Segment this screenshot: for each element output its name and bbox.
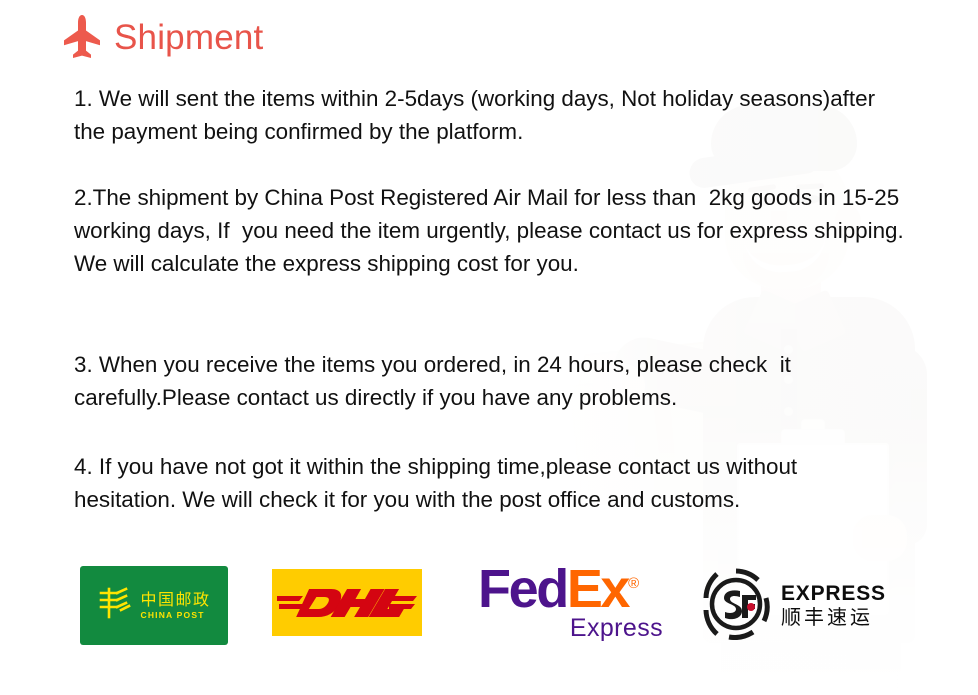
fedex-fed-text: Fed <box>478 559 567 619</box>
page-title: Shipment <box>114 20 263 55</box>
dhl-wordmark-icon <box>277 580 417 626</box>
china-post-mark-icon <box>97 586 133 625</box>
fedex-logo: FedEx® Express <box>478 563 688 661</box>
fedex-ex-text: Ex <box>567 559 628 619</box>
china-post-logo: 中国邮政 CHINA POST <box>80 566 228 645</box>
registered-trademark-icon: ® <box>628 575 639 592</box>
sf-express-name-cn: 顺丰速运 <box>781 606 873 629</box>
sf-express-name-en: EXPRESS <box>781 583 886 605</box>
paragraph-2: 2.The shipment by China Post Registered … <box>74 181 904 280</box>
paragraph-1: 1. We will sent the items within 2-5days… <box>74 82 904 148</box>
shipment-info-banner: Shipment 1. We will sent the items withi… <box>0 0 978 695</box>
fedex-wordmark: FedEx® <box>478 563 688 616</box>
section-header: Shipment <box>62 14 263 60</box>
sf-express-logo: EXPRESS 顺丰速运 <box>700 567 888 645</box>
carrier-logo-strip: 中国邮政 CHINA POST <box>0 563 978 667</box>
dhl-logo <box>272 569 422 636</box>
airplane-icon <box>62 14 102 60</box>
china-post-name-en: CHINA POST <box>140 610 204 620</box>
china-post-name-cn: 中国邮政 <box>140 591 210 609</box>
paragraph-3: 3. When you receive the items you ordere… <box>74 348 904 414</box>
paragraph-4: 4. If you have not got it within the shi… <box>74 450 904 516</box>
sf-express-mark-icon <box>700 568 772 645</box>
